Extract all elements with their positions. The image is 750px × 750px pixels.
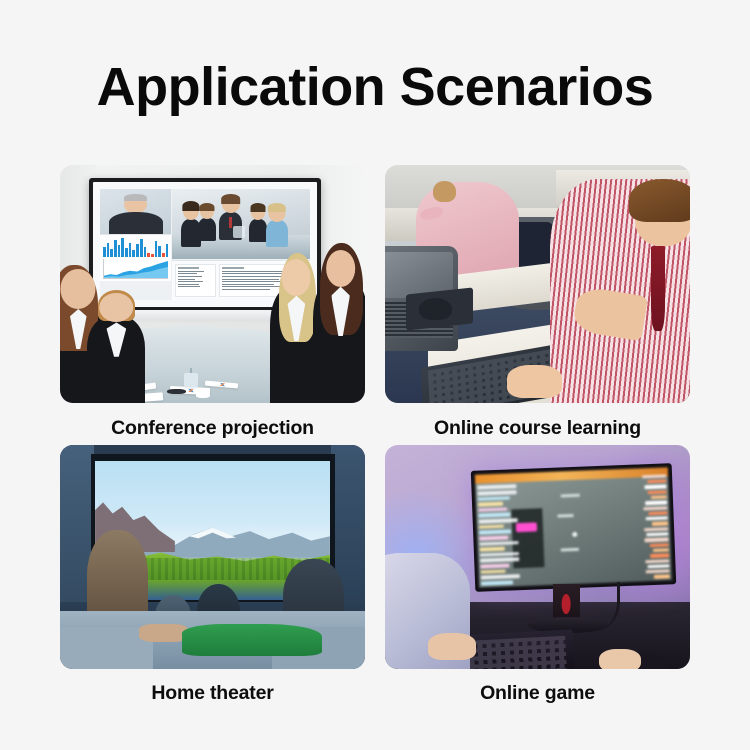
- conference-room-scene: [60, 165, 365, 403]
- video-tile-presenter: [100, 189, 171, 234]
- viewer-arm-left: [139, 624, 188, 642]
- student-girl-head: [433, 181, 456, 202]
- stand-logo: [562, 594, 571, 614]
- water-pitcher: [184, 373, 198, 390]
- student-boy: [550, 179, 690, 403]
- attendee: [313, 279, 365, 403]
- scenario-caption-conference-projection: Conference projection: [111, 417, 314, 440]
- scenario-card-conference-projection[interactable]: Conference projection: [60, 165, 365, 440]
- viewer-arm-green-sweater: [182, 624, 322, 655]
- monitor-stand: [553, 584, 580, 622]
- gaming-setup-scene: [385, 445, 690, 669]
- charts-panel: [100, 234, 171, 281]
- presenter-hair: [124, 194, 147, 201]
- remote-participant-tie: [229, 217, 232, 228]
- student-boy-tie: [651, 246, 665, 331]
- player-hand-left: [428, 633, 477, 660]
- classroom-scene: [385, 165, 690, 403]
- scenario-card-online-game[interactable]: Online game: [385, 445, 690, 715]
- gaming-monitor: [471, 464, 677, 593]
- scenario-caption-online-game: Online game: [480, 682, 595, 705]
- scenario-caption-home-theater: Home theater: [151, 682, 273, 705]
- video-tile-main: [172, 189, 309, 259]
- scenario-image-online-course-learning: [385, 165, 690, 403]
- scenario-card-home-theater[interactable]: Home theater: [60, 445, 365, 715]
- scenario-card-online-course-learning[interactable]: Online course learning: [385, 165, 690, 440]
- area-chart: [103, 259, 169, 279]
- game-chat-right: [640, 475, 671, 580]
- game-chat-left: [478, 485, 520, 586]
- presenter-tie: [133, 218, 137, 233]
- scenario-image-online-game: [385, 445, 690, 669]
- student-boy-hand: [507, 365, 562, 398]
- scenario-image-conference-projection: [60, 165, 365, 403]
- student-boy-hair: [629, 179, 690, 222]
- remote-glassware: [233, 226, 245, 238]
- remote-participant: [249, 219, 267, 243]
- bar-chart: [103, 237, 169, 257]
- presenter-shirt: [129, 216, 143, 234]
- scenario-caption-online-course-learning: Online course learning: [434, 417, 641, 440]
- student-girl-arm: [419, 206, 444, 223]
- attendee: [87, 317, 145, 403]
- page-title: Application Scenarios: [0, 58, 750, 117]
- remote-participant: [198, 218, 216, 241]
- player-hand-right: [599, 649, 642, 669]
- coffee-cup: [196, 393, 210, 398]
- document: [205, 381, 239, 389]
- computer-mouse: [419, 298, 453, 319]
- game-screen: [475, 468, 672, 588]
- remote-participant: [266, 220, 288, 247]
- home-theater-scene: [60, 445, 365, 669]
- student-boy-arm: [572, 286, 648, 341]
- scenario-grid: Conference projection: [60, 165, 690, 735]
- bowl: [167, 389, 186, 394]
- list-left: [175, 264, 216, 298]
- game-highlight: [516, 522, 538, 532]
- scenario-image-home-theater: [60, 445, 365, 669]
- display-screen: [100, 189, 310, 300]
